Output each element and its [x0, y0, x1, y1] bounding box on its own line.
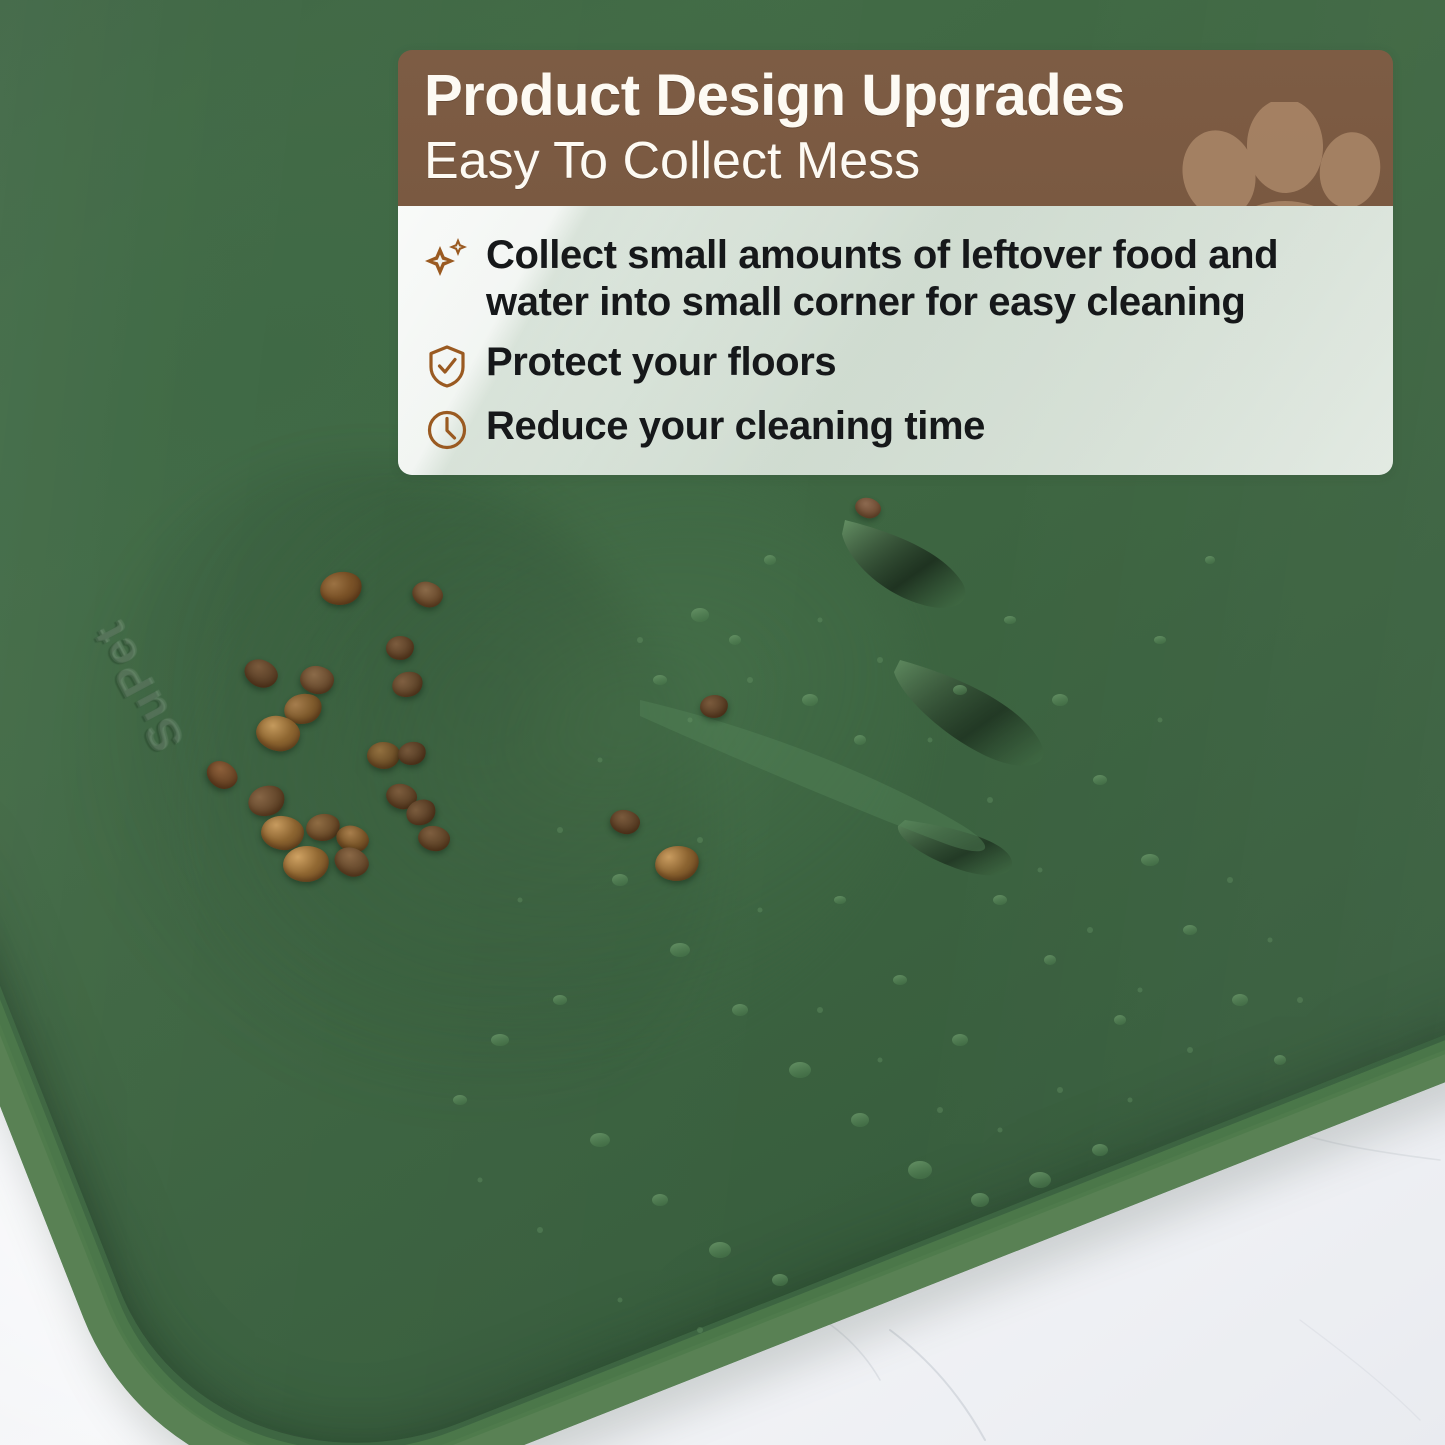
list-item-label: Collect small amounts of leftover food a…: [486, 232, 1366, 325]
feature-bullet-list: Collect small amounts of leftover food a…: [424, 232, 1367, 453]
list-item: Collect small amounts of leftover food a…: [424, 232, 1367, 325]
clock-icon: [424, 407, 470, 453]
callout-title: Product Design Upgrades: [424, 64, 1367, 129]
callout-body: Collect small amounts of leftover food a…: [398, 206, 1393, 475]
callout-subtitle: Easy To Collect Mess: [424, 133, 1367, 190]
product-lifestyle-image: Product Design Upgrades Easy To Collect …: [0, 0, 1445, 1445]
list-item: Reduce your cleaning time: [424, 403, 1367, 453]
list-item: Protect your floors: [424, 339, 1367, 389]
list-item-label: Protect your floors: [486, 339, 836, 385]
list-item-label: Reduce your cleaning time: [486, 403, 985, 449]
shield-check-icon: [424, 343, 470, 389]
callout-header: Product Design Upgrades Easy To Collect …: [398, 50, 1393, 206]
feature-callout-card: Product Design Upgrades Easy To Collect …: [398, 50, 1393, 475]
sparkle-icon: [424, 236, 470, 282]
